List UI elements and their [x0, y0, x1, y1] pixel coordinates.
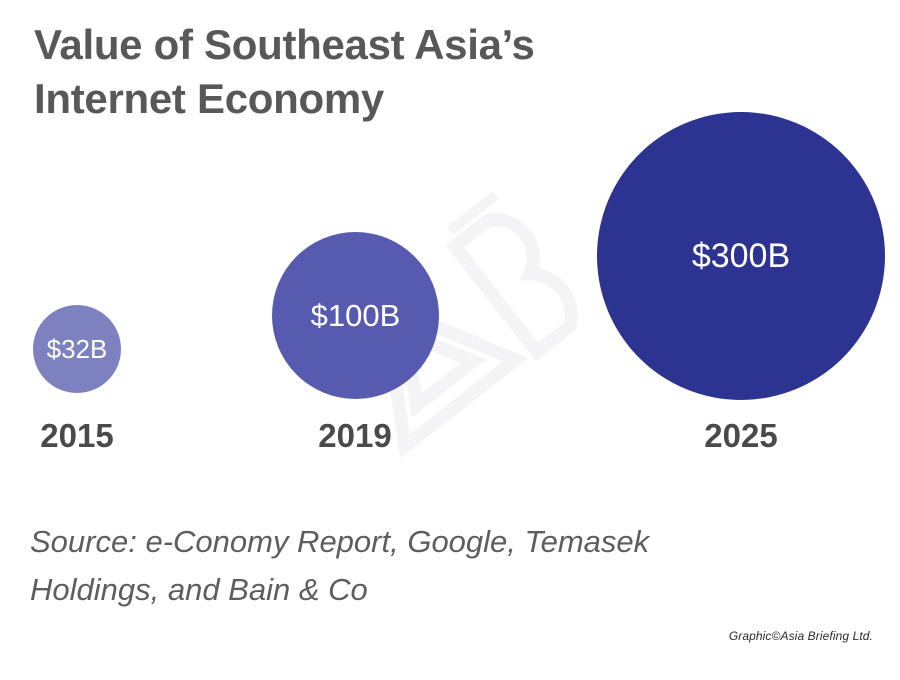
bubble-value-2019: $100B [311, 300, 401, 331]
bubble-value-2015: $32B [47, 336, 108, 362]
year-label-2025: 2025 [691, 419, 791, 452]
bubble-2019: $100B [272, 232, 439, 399]
year-label-2019: 2019 [305, 419, 405, 452]
title-line-1: Value of Southeast Asia’s [34, 18, 674, 72]
source-line-1: Source: e-Conomy Report, Google, Temasek [30, 518, 850, 566]
infographic-canvas: Value of Southeast Asia’s Internet Econo… [0, 0, 900, 680]
bubble-value-2025: $300B [692, 239, 790, 273]
bubble-2015: $32B [33, 305, 121, 393]
year-label-2015: 2015 [27, 419, 127, 452]
source-line-2: Holdings, and Bain & Co [30, 566, 850, 614]
source-note: Source: e-Conomy Report, Google, Temasek… [30, 518, 850, 614]
page-title: Value of Southeast Asia’s Internet Econo… [34, 18, 674, 126]
bubble-2025: $300B [597, 112, 885, 400]
title-line-2: Internet Economy [34, 72, 674, 126]
graphic-credit: Graphic©Asia Briefing Ltd. [729, 629, 873, 643]
